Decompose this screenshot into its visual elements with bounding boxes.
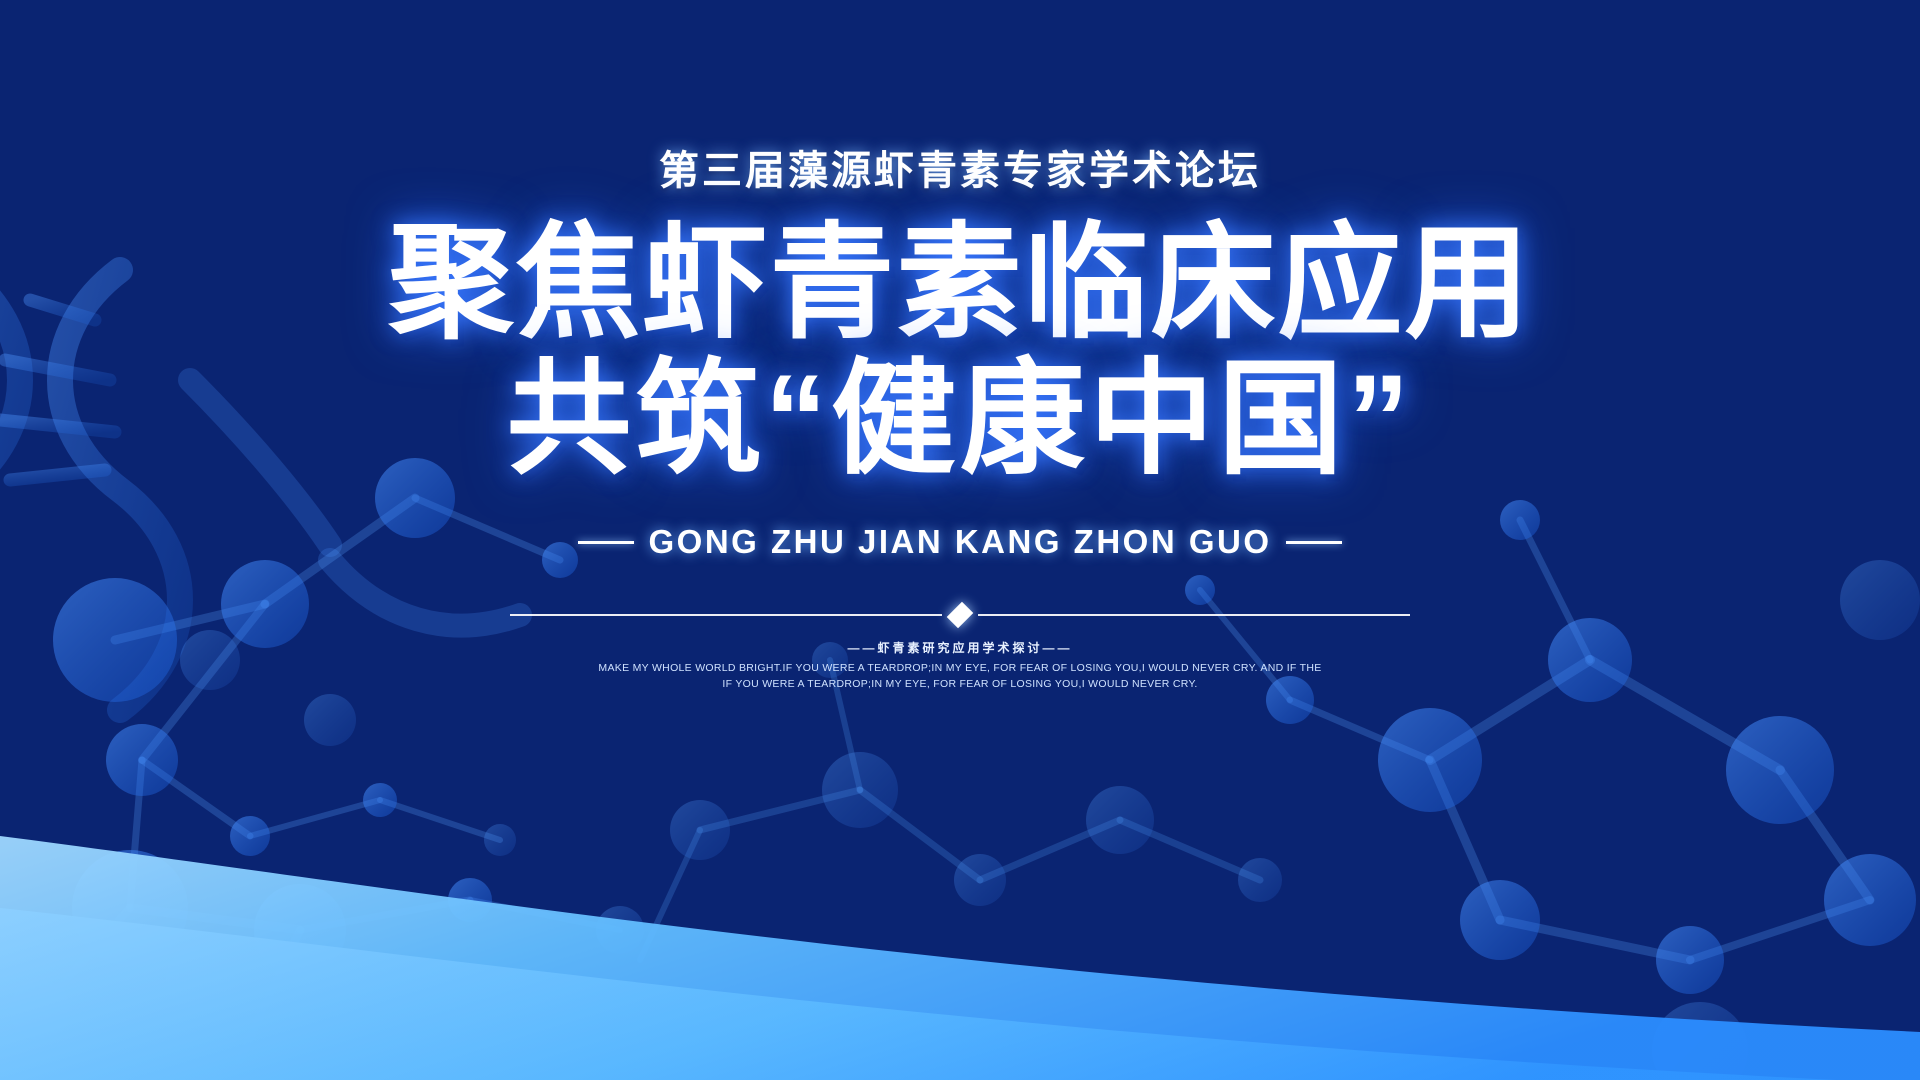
pinyin-subtitle-row: GONG ZHU JIAN KANG ZHON GUO [578,523,1341,561]
poster-title-line-2: 共筑“健康中国” [389,356,1532,484]
pinyin-subtitle: GONG ZHU JIAN KANG ZHON GUO [648,523,1271,561]
poster-canvas: 第三届藻源虾青素专家学术论坛 聚焦虾青素临床应用 共筑“健康中国” GONG Z… [0,0,1920,1080]
pinyin-dash-right-icon [1286,541,1342,544]
fine-print-english-line-2: IF YOU WERE A TEARDROP;IN MY EYE, FOR FE… [598,677,1321,693]
ornamental-divider [510,607,1410,623]
poster-title-block: 聚焦虾青素临床应用 共筑“健康中国” [389,220,1532,483]
poster-title-line-1: 聚焦虾青素临床应用 [389,220,1532,348]
fine-print-english-line-1: MAKE MY WHOLE WORLD BRIGHT.IF YOU WERE A… [598,661,1321,677]
fine-print-english-block: MAKE MY WHOLE WORLD BRIGHT.IF YOU WERE A… [598,661,1321,693]
event-series-label: 第三届藻源虾青素专家学术论坛 [659,138,1261,196]
poster-content: 第三届藻源虾青素专家学术论坛 聚焦虾青素临床应用 共筑“健康中国” GONG Z… [0,0,1920,1080]
fine-print-chinese-heading: ——虾青素研究应用学术探讨—— [847,639,1072,656]
pinyin-dash-left-icon [578,541,634,544]
divider-line-right [978,614,1410,616]
divider-line-left [510,614,942,616]
diamond-icon [947,602,974,629]
